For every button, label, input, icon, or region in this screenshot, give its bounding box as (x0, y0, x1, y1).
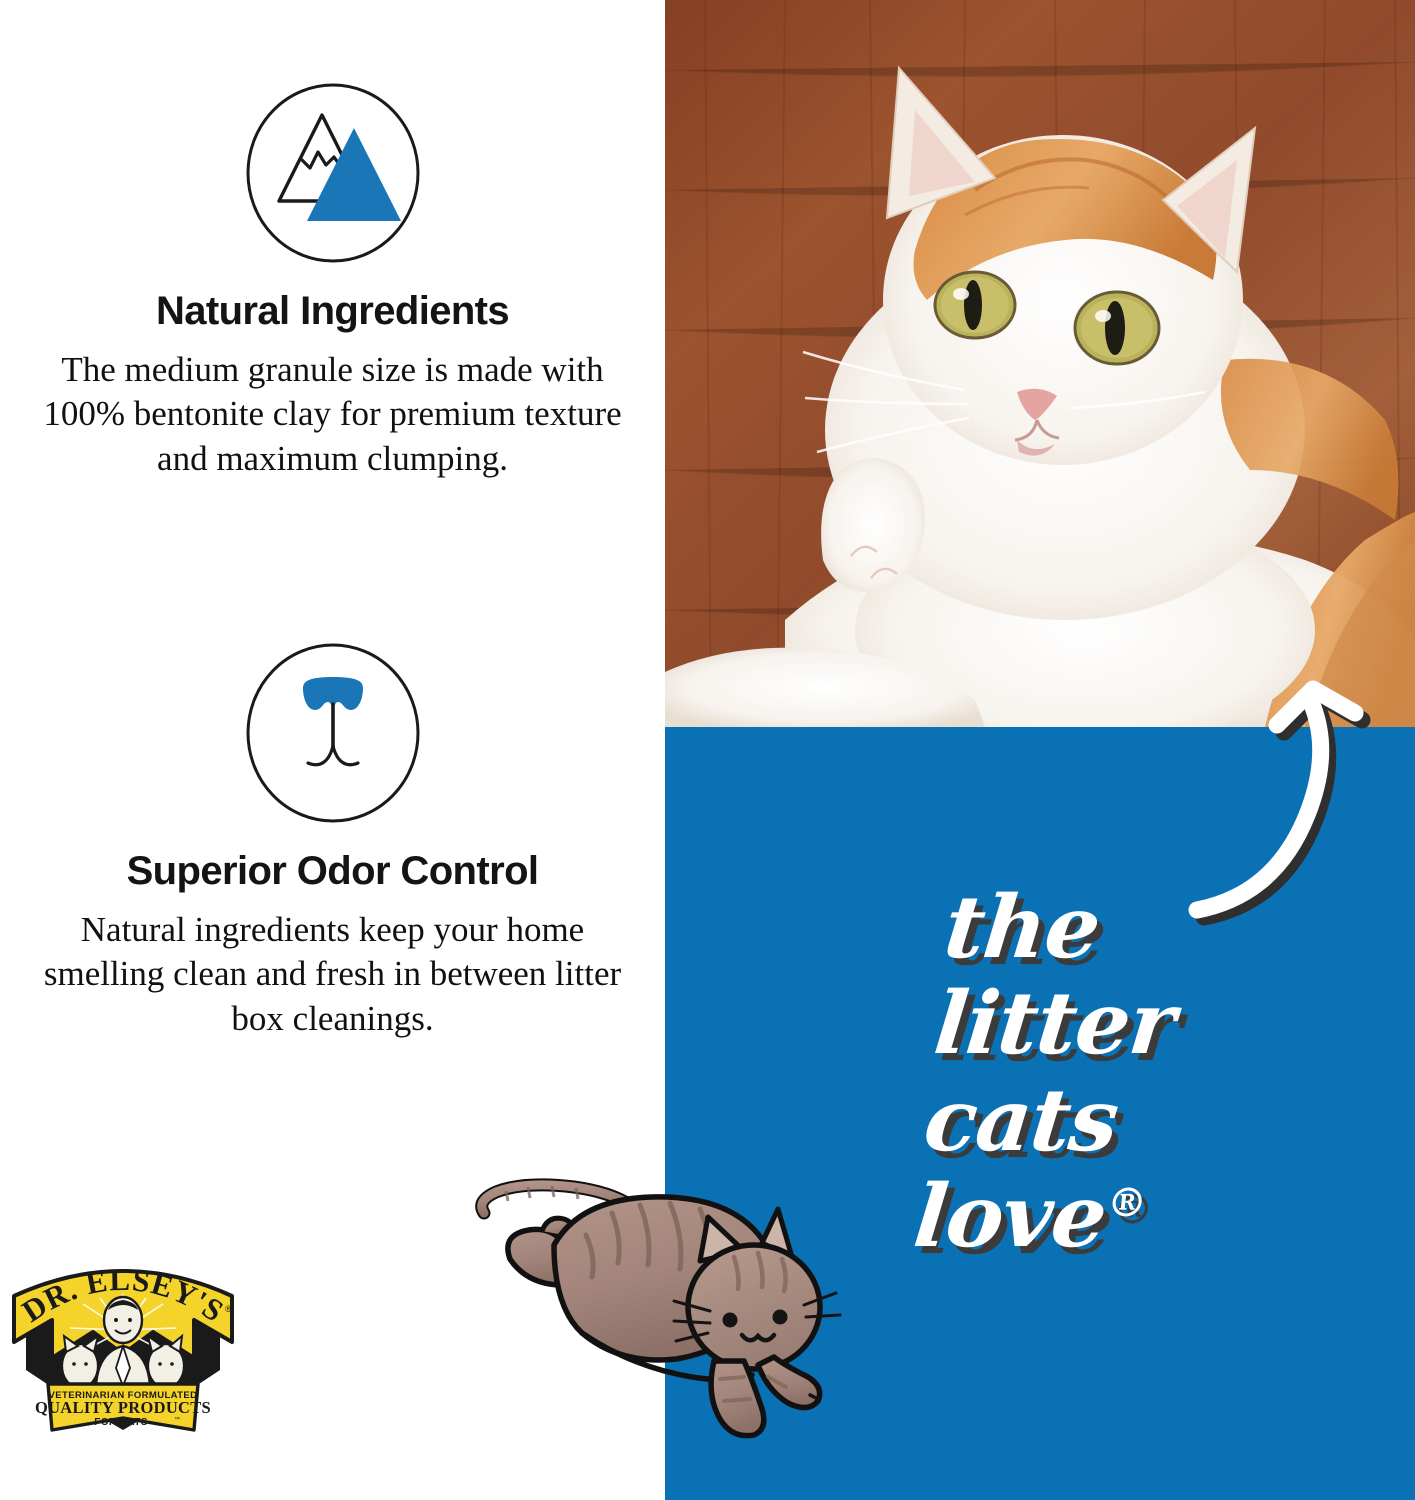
tagline-line-3: cats (920, 1073, 1350, 1169)
feature-title: Superior Odor Control (0, 850, 665, 892)
feature-superior-odor-control: Superior Odor Control Natural ingredient… (0, 638, 665, 1041)
leaping-tabby-cat-illustration (462, 1165, 852, 1450)
feature-natural-ingredients: Natural Ingredients The medium granule s… (0, 78, 665, 481)
tagline-script: the litter cats love® (910, 880, 1370, 1265)
logo-banner-line3: FOR CATS (94, 1417, 148, 1428)
tagline-registered-mark: ® (1105, 1179, 1150, 1226)
dr-elseys-logo: DR. ELSEY'S ® (8, 1258, 238, 1440)
logo-banner-trademark: ™ (174, 1416, 180, 1423)
tagline-line-1: the (940, 880, 1370, 976)
logo-registered-mark: ® (225, 1304, 232, 1314)
logo-banner-line2: QUALITY PRODUCTS (35, 1398, 211, 1417)
feature-description: The medium granule size is made with 100… (33, 348, 633, 481)
cat-photo (665, 0, 1415, 727)
feature-description: Natural ingredients keep your home smell… (33, 908, 633, 1041)
product-infographic: Natural Ingredients The medium granule s… (0, 0, 1415, 1500)
cat-nose-icon (244, 638, 422, 828)
tagline-line-4: love® (910, 1169, 1340, 1265)
tagline-line-2: litter (930, 976, 1360, 1072)
feature-title: Natural Ingredients (0, 290, 665, 332)
mountain-icon (244, 78, 422, 268)
tagline-word-love: love (910, 1166, 1111, 1267)
